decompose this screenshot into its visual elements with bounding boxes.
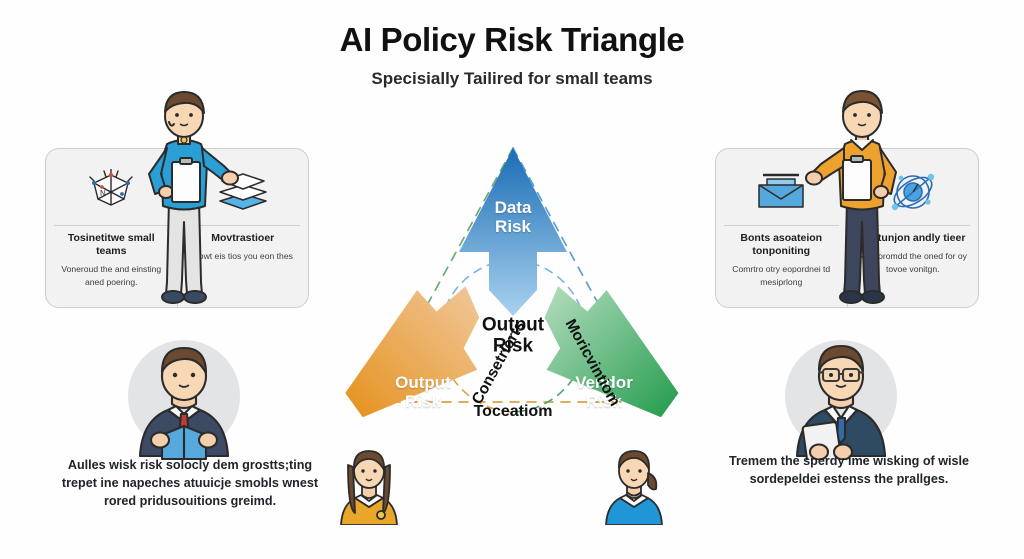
risk-triangle-diagram: Data Risk Output Risk Vendor Risk Output…: [330, 120, 694, 450]
caption-bottom-left: Aulles wisk risk solocly dem grostts;tin…: [60, 457, 320, 511]
page-title: AI Policy Risk Triangle: [0, 22, 1024, 58]
woman-yellow-blazer-avatar: [333, 443, 405, 525]
svg-text:N: N: [100, 189, 106, 198]
infographic-canvas: AI Policy Risk Triangle Specisially Tail…: [0, 0, 1024, 559]
man-glasses-tablet-avatar: [775, 328, 907, 460]
person-orange-sweater-clipboard: [803, 82, 921, 314]
arrow-label-line2: Risk: [495, 217, 531, 236]
man-suit-reading-book-avatar: [118, 328, 250, 460]
header: AI Policy Risk Triangle Specisially Tail…: [0, 22, 1024, 89]
person-blue-shirt-clipboard: [125, 82, 243, 314]
arrow-label-line2: Risk: [405, 392, 441, 411]
arrow-label-line1: Data: [495, 198, 532, 217]
arrow-label-output-risk: Output Risk: [395, 373, 451, 411]
arrow-label-data-risk: Data Risk: [495, 198, 532, 236]
woman-blue-blazer-avatar: [598, 443, 670, 525]
edge-label-bottom: Toceatiom: [474, 403, 553, 421]
arrow-label-line1: Output: [395, 373, 451, 392]
caption-bottom-right: Tremem the sperdy ime wisking of wisle s…: [718, 453, 980, 489]
